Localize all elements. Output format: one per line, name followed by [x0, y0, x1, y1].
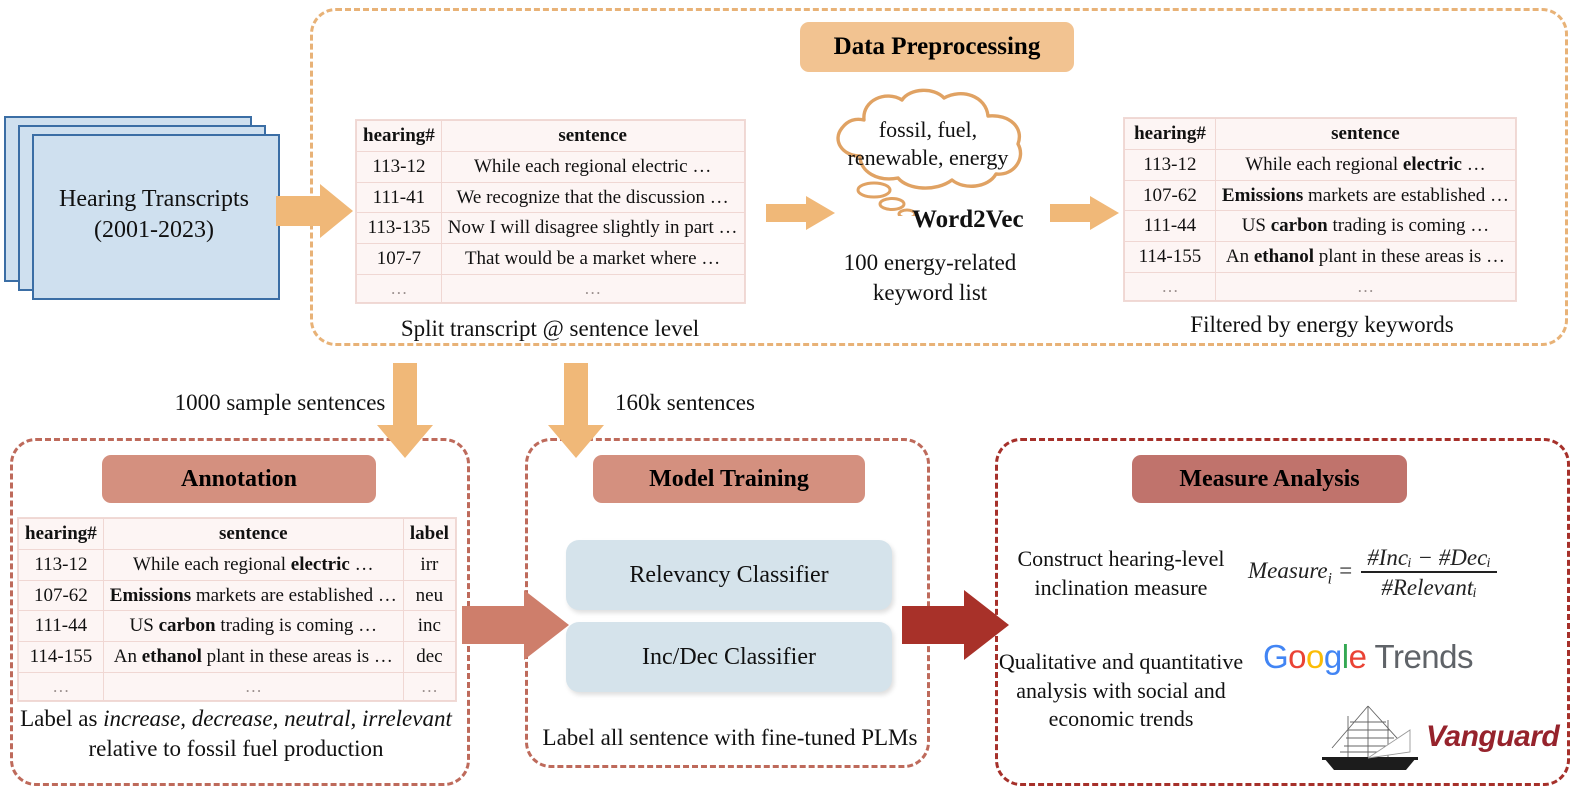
stage-title-measure-analysis: Measure Analysis	[1132, 455, 1407, 503]
table-cell-lbl: dec	[403, 642, 455, 673]
measure-construct-text: Construct hearing-level inclination meas…	[1002, 545, 1240, 602]
table-cell-sent: US carbon trading is coming …	[103, 611, 403, 642]
keyword-list-caption-line2: keyword list	[816, 278, 1044, 308]
google-trends-logo: Google Trends	[1263, 638, 1473, 676]
cloud-keywords-line1: fossil, fuel,	[830, 116, 1026, 144]
arrow-transcripts-to-split	[276, 182, 354, 240]
keyword-list-caption: 100 energy-related keyword list	[816, 248, 1044, 308]
table-cell-num: 111-44	[19, 611, 104, 642]
measure-construct-line2: inclination measure	[1002, 574, 1240, 603]
table-row: 114-155An ethanol plant in these areas i…	[1125, 242, 1516, 273]
google-trends-product-label: Trends	[1366, 638, 1473, 675]
measure-qual-line2: analysis with social and	[992, 677, 1250, 706]
formula-fraction: #Incᵢ − #Decᵢ #Relevantᵢ	[1361, 545, 1497, 601]
table-cell-num: 107-62	[19, 580, 104, 611]
table-body: 113-12While each regional electric …111-…	[357, 151, 745, 302]
keyword-list-caption-line1: 100 energy-related	[816, 248, 1044, 278]
table-row: 114-155An ethanol plant in these areas i…	[19, 642, 456, 673]
measure-formula: Measurei = #Incᵢ − #Decᵢ #Relevantᵢ	[1248, 545, 1548, 601]
table-cell-lbl: irr	[403, 549, 455, 580]
col-hearing-number: hearing#	[1125, 119, 1216, 150]
table-row: ……	[357, 274, 745, 302]
formula-left-hand-side: Measurei =	[1248, 558, 1353, 589]
table-cell-sent: An ethanol plant in these areas is …	[103, 642, 403, 673]
label-160k-sentences: 160k sentences	[590, 388, 780, 418]
table-body: 113-12While each regional electric …107-…	[1125, 149, 1516, 300]
label-1000-sample-sentences: 1000 sample sentences	[160, 388, 400, 418]
table-row: 107-62Emissions markets are established …	[19, 580, 456, 611]
table-cell-sent: …	[1215, 272, 1515, 300]
table-cell-sent: An ethanol plant in these areas is …	[1215, 242, 1515, 273]
table-cell-num: 113-12	[1125, 149, 1216, 180]
table-filtered-sentences: hearing# sentence 113-12While each regio…	[1124, 118, 1516, 301]
table-split-sentences: hearing# sentence 113-12While each regio…	[356, 120, 745, 303]
classifier-relevancy: Relevancy Classifier	[566, 540, 892, 610]
table-row: 107-62Emissions markets are established …	[1125, 180, 1516, 211]
google-logo-letter-l: l	[1342, 638, 1349, 675]
table-cell-num: 107-7	[357, 244, 442, 275]
table-row: 111-41We recognize that the discussion …	[357, 182, 745, 213]
table-cell-sent: Now I will disagree slightly in part …	[441, 213, 744, 244]
table-cell-num: 114-155	[1125, 242, 1216, 273]
cloud-keywords: fossil, fuel, renewable, energy	[830, 116, 1026, 172]
measure-qualitative-text: Qualitative and quantitative analysis wi…	[992, 648, 1250, 734]
table-row: ………	[19, 672, 456, 700]
caption-label-all-sentences: Label all sentence with fine-tuned PLMs	[530, 723, 930, 753]
table-row: 111-44US carbon trading is coming …inc	[19, 611, 456, 642]
col-sentence: sentence	[103, 519, 403, 550]
measure-qual-line3: economic trends	[992, 705, 1250, 734]
table-cell-sent: Emissions markets are established …	[1215, 180, 1515, 211]
table-cell-sent: While each regional electric …	[1215, 149, 1515, 180]
table-header-row: hearing# sentence	[1125, 119, 1516, 150]
table-row: 113-135Now I will disagree slightly in p…	[357, 213, 745, 244]
measure-qual-line1: Qualitative and quantitative	[992, 648, 1250, 677]
col-sentence: sentence	[441, 121, 744, 152]
table-cell-num: …	[357, 274, 442, 302]
stage-title-data-preprocessing: Data Preprocessing	[800, 22, 1074, 72]
vanguard-logo: Vanguard	[1310, 700, 1430, 783]
formula-denominator: #Relevantᵢ	[1361, 571, 1497, 601]
table-row: 107-7That would be a market where …	[357, 244, 745, 275]
cloud-keywords-line2: renewable, energy	[830, 144, 1026, 172]
caption-split-transcript: Split transcript @ sentence level	[330, 314, 770, 344]
table-header-row: hearing# sentence	[357, 121, 745, 152]
table-cell-num: 113-12	[357, 151, 442, 182]
col-sentence: sentence	[1215, 119, 1515, 150]
table-cell-sent: US carbon trading is coming …	[1215, 211, 1515, 242]
hearing-transcripts-label: Hearing Transcripts (2001-2023)	[32, 134, 276, 296]
table-cell-lbl: inc	[403, 611, 455, 642]
table-row: ……	[1125, 272, 1516, 300]
table-row: 111-44US carbon trading is coming …	[1125, 211, 1516, 242]
google-logo-letter-g2: g	[1324, 638, 1342, 675]
table-row: 113-12While each regional electric …	[357, 151, 745, 182]
table-cell-sent: That would be a market where …	[441, 244, 744, 275]
col-label: label	[403, 519, 455, 550]
table-annotated-sentences: hearing# sentence label 113-12While each…	[18, 518, 456, 701]
formula-numerator: #Incᵢ − #Decᵢ	[1361, 545, 1497, 572]
table-cell-lbl: neu	[403, 580, 455, 611]
vanguard-wordmark: Vanguard	[1426, 720, 1559, 754]
table-cell-sent: …	[441, 274, 744, 302]
table-cell-sent: …	[103, 672, 403, 700]
table-cell-num: 114-155	[19, 642, 104, 673]
col-hearing-number: hearing#	[357, 121, 442, 152]
table-cell-num: …	[1125, 272, 1216, 300]
table-cell-num: 111-44	[1125, 211, 1216, 242]
measure-construct-line1: Construct hearing-level	[1002, 545, 1240, 574]
word2vec-label: Word2Vec	[912, 206, 1072, 234]
stage-title-model-training: Model Training	[593, 455, 865, 503]
caption-annotation-labels: Label as increase, decrease, neutral, ir…	[6, 704, 466, 764]
table-cell-sent: We recognize that the discussion …	[441, 182, 744, 213]
hearing-transcripts-title: Hearing Transcripts	[59, 184, 249, 215]
google-logo-letter-o1: o	[1288, 638, 1306, 675]
table-body: 113-12While each regional electric …irr1…	[19, 549, 456, 700]
caption-filtered-by-keywords: Filtered by energy keywords	[1120, 310, 1524, 340]
table-cell-sent: While each regional electric …	[441, 151, 744, 182]
table-cell-num: 107-62	[1125, 180, 1216, 211]
table-cell-sent: While each regional electric …	[103, 549, 403, 580]
google-logo-letter-g1: G	[1263, 638, 1288, 675]
hearing-transcripts-stack: Hearing Transcripts (2001-2023)	[4, 116, 284, 306]
table-cell-num: 113-135	[357, 213, 442, 244]
classifier-inc-dec: Inc/Dec Classifier	[566, 622, 892, 692]
table-row: 113-12While each regional electric …irr	[19, 549, 456, 580]
google-logo-letter-e: e	[1349, 638, 1367, 675]
keyword-thought-cloud: fossil, fuel, renewable, energy	[812, 86, 1044, 216]
col-hearing-number: hearing#	[19, 519, 104, 550]
arrow-annotation-to-training	[462, 588, 570, 662]
vanguard-ship-icon	[1310, 700, 1430, 778]
table-cell-sent: Emissions markets are established …	[103, 580, 403, 611]
table-cell-num: …	[19, 672, 104, 700]
table-row: 113-12While each regional electric …	[1125, 149, 1516, 180]
hearing-transcripts-years: (2001-2023)	[94, 215, 214, 246]
table-header-row: hearing# sentence label	[19, 519, 456, 550]
table-cell-lbl: …	[403, 672, 455, 700]
google-logo-letter-o2: o	[1306, 638, 1324, 675]
stage-title-annotation: Annotation	[102, 455, 376, 503]
table-cell-num: 111-41	[357, 182, 442, 213]
table-cell-num: 113-12	[19, 549, 104, 580]
